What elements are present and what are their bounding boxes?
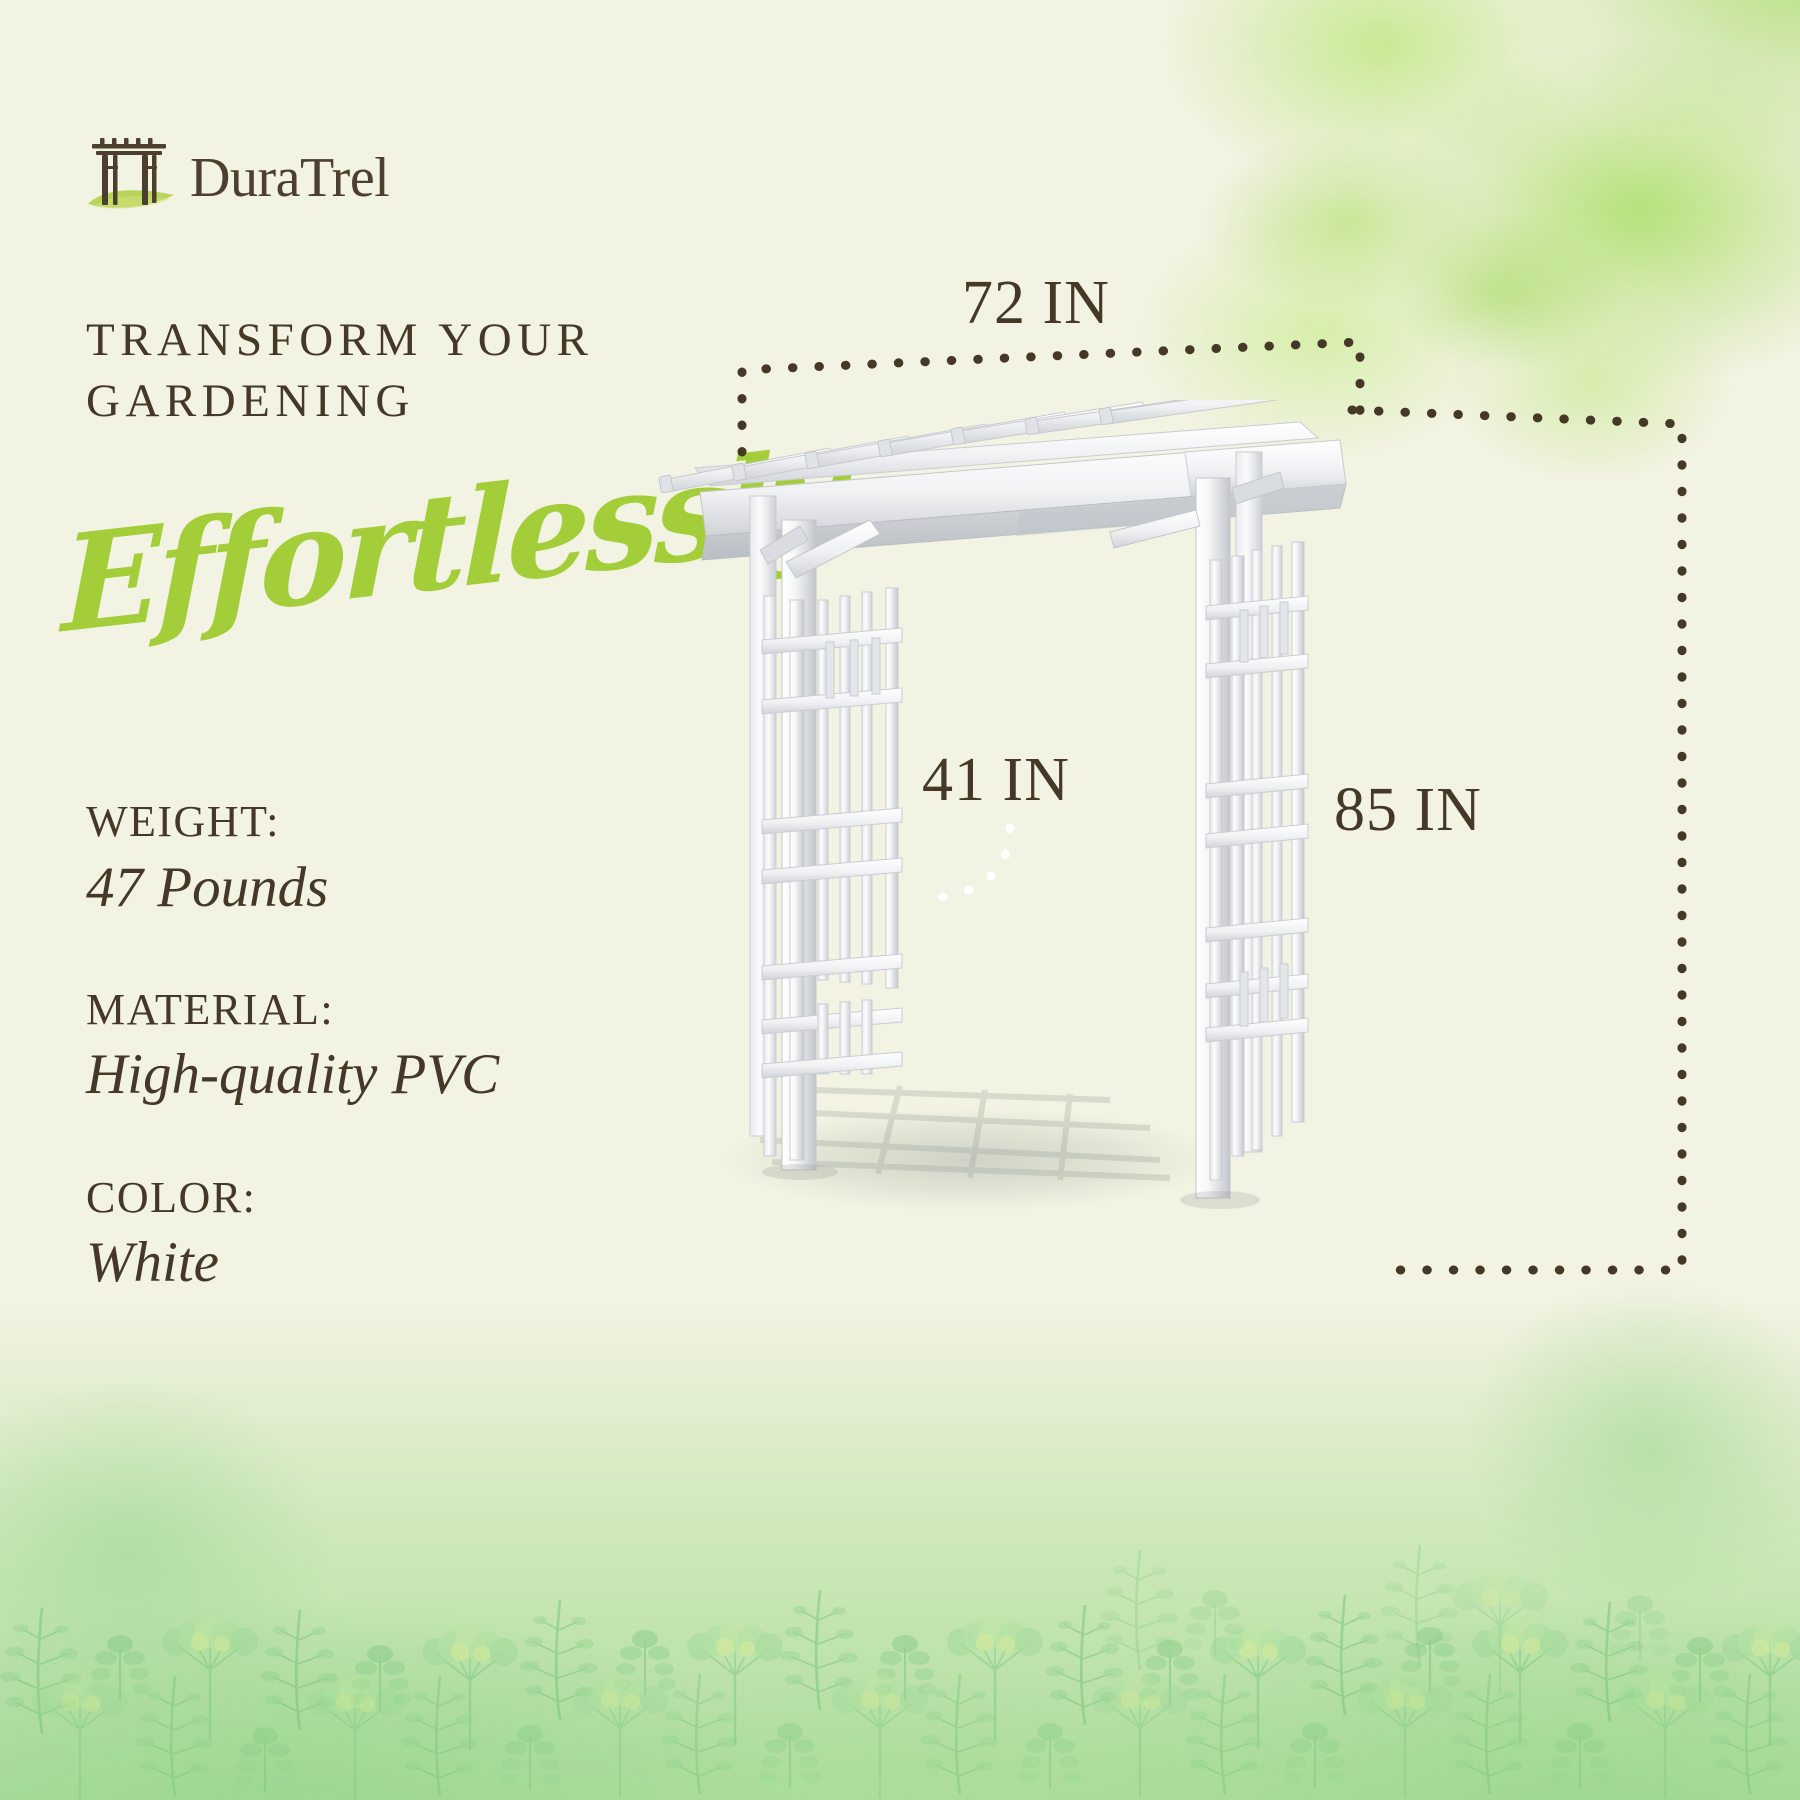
green-watercolor-wash-bottom (0, 1300, 1800, 1800)
dimension-label-width: 72 IN (962, 268, 1110, 339)
brand-wordmark: DuraTrel (190, 150, 389, 212)
headline-line-2: GARDENING (86, 371, 726, 432)
spec-row-material: MATERIAL: High-quality PVC (86, 983, 706, 1113)
spec-value-material: High-quality PVC (86, 1038, 706, 1112)
brand-logo[interactable]: DuraTrel (86, 132, 389, 212)
green-watercolor-wash-top-right-2 (1140, 40, 1660, 400)
dimension-label-opening: 41 IN (922, 745, 1070, 816)
spec-list: WEIGHT: 47 Pounds MATERIAL: High-quality… (86, 795, 706, 1358)
spec-value-color: White (86, 1226, 706, 1300)
spec-label-weight: WEIGHT: (86, 795, 706, 849)
spec-row-color: COLOR: White (86, 1171, 706, 1301)
spec-row-weight: WEIGHT: 47 Pounds (86, 795, 706, 925)
dimension-label-height: 85 IN (1334, 775, 1482, 846)
spec-value-weight: 47 Pounds (86, 851, 706, 925)
spec-label-material: MATERIAL: (86, 983, 706, 1037)
headline-line-1: TRANSFORM YOUR (86, 310, 726, 371)
spec-label-color: COLOR: (86, 1171, 706, 1225)
infographic-canvas: DuraTrel TRANSFORM YOUR GARDENING Effort… (0, 0, 1800, 1800)
product-image-pergola-arbor (640, 400, 1440, 1340)
page-title: TRANSFORM YOUR GARDENING (86, 310, 726, 432)
pergola-arbor-icon (86, 132, 176, 212)
